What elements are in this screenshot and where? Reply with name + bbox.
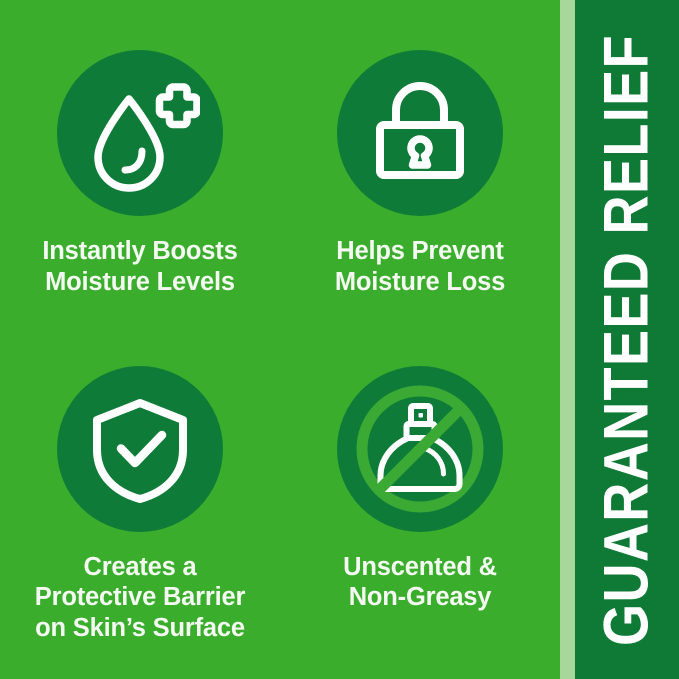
- padlock-icon: [364, 77, 476, 189]
- icon-disc-water-droplet: [57, 50, 223, 216]
- feature-label-instantly-boosts-moisture: Instantly Boosts Moisture Levels: [42, 236, 237, 298]
- feature-label-creates-protective-barrier: Creates a Protective Barrier on Skin’s S…: [35, 552, 245, 645]
- guaranteed-relief-side-panel: GUARANTEED RELIEF: [575, 0, 679, 679]
- benefits-panel-image: Instantly Boosts Moisture Levels: [0, 0, 679, 679]
- accent-stripe-divider: [560, 0, 575, 679]
- icon-disc-no-fragrance: [337, 366, 503, 532]
- icon-disc-shield: [57, 366, 223, 532]
- feature-item-instantly-boosts-moisture: Instantly Boosts Moisture Levels: [0, 0, 280, 340]
- feature-label-helps-prevent-moisture-loss: Helps Prevent Moisture Loss: [335, 236, 505, 298]
- feature-grid: Instantly Boosts Moisture Levels: [0, 0, 560, 679]
- feature-item-helps-prevent-moisture-loss: Helps Prevent Moisture Loss: [280, 0, 560, 340]
- icon-disc-padlock: [337, 50, 503, 216]
- shield-check-icon: [84, 393, 196, 505]
- feature-label-unscented-non-greasy: Unscented & Non-Greasy: [343, 552, 497, 614]
- no-fragrance-bottle-icon: [347, 376, 493, 522]
- side-panel-title: GUARANTEED RELIEF: [596, 0, 659, 679]
- water-droplet-plus-icon: [80, 73, 200, 193]
- features-area: Instantly Boosts Moisture Levels: [0, 0, 560, 679]
- feature-item-creates-protective-barrier: Creates a Protective Barrier on Skin’s S…: [0, 340, 280, 679]
- feature-item-unscented-non-greasy: Unscented & Non-Greasy: [280, 340, 560, 679]
- side-panel-title-text: GUARANTEED RELIEF: [596, 34, 659, 646]
